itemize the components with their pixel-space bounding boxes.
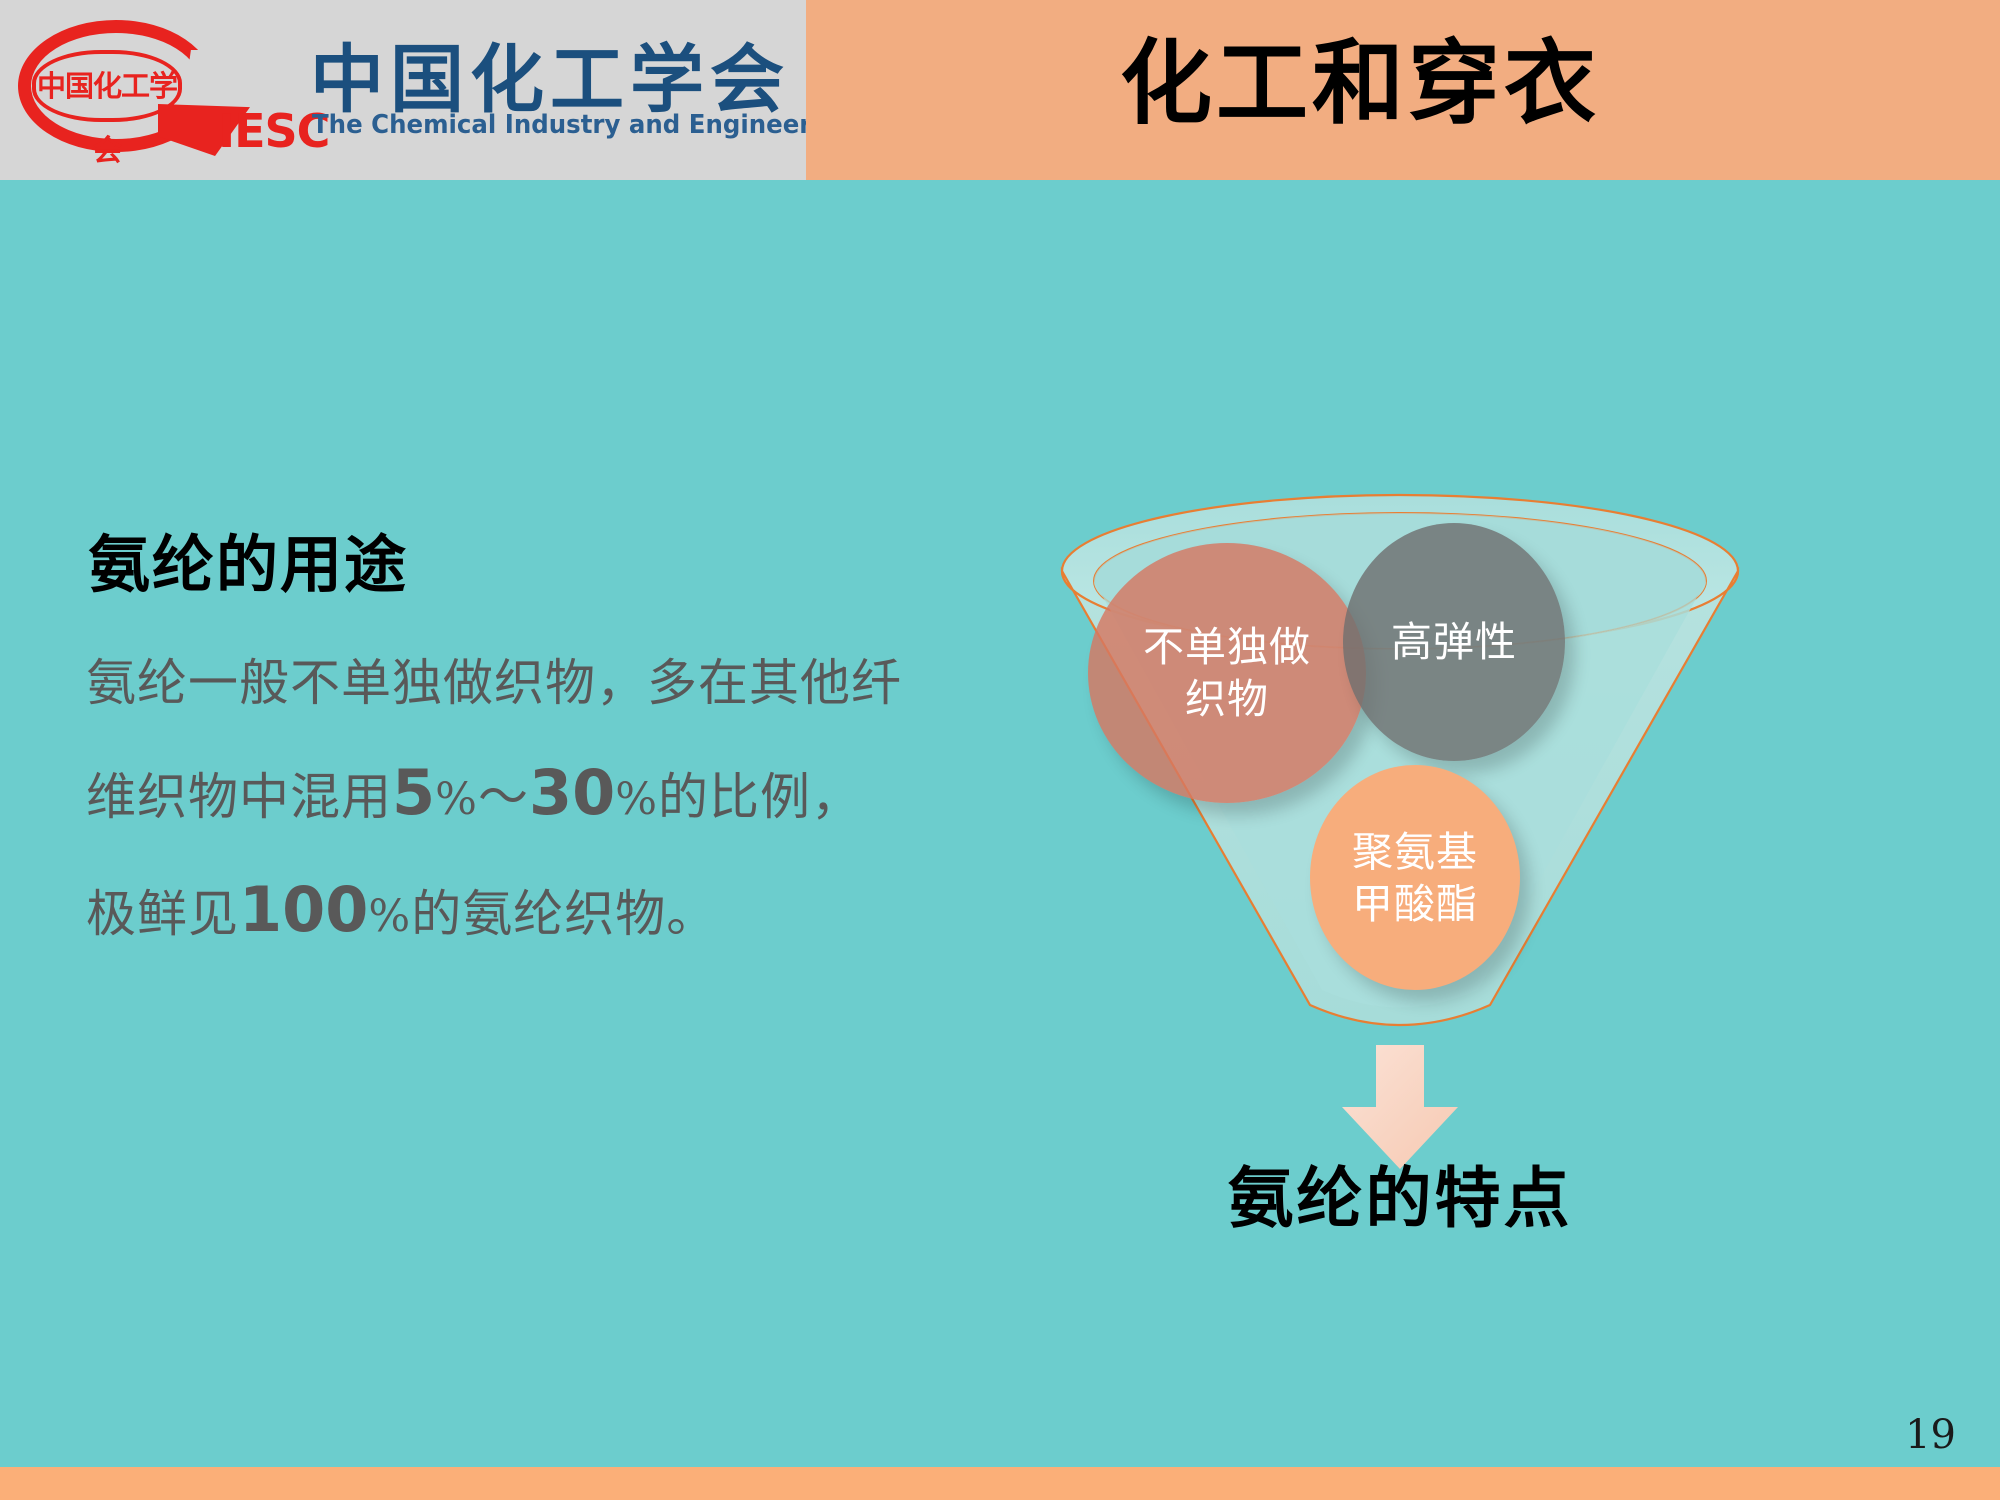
logo-english-name: The Chemical Industry and Engineering So… — [312, 110, 806, 140]
funnel-result-label: 氨纶的特点 — [1180, 1145, 1620, 1241]
slide-canvas: 中国化工学会 IESC 中国化工学会 The Chemical Industry… — [0, 0, 2000, 1500]
paragraph-line-2: 维织物中混用5%～30%的比例， — [86, 738, 966, 855]
organization-logo: 中国化工学会 IESC 中国化工学会 The Chemical Industry… — [0, 0, 806, 180]
line2-num1: 5 — [392, 756, 435, 829]
line2-pct2: % — [615, 774, 658, 825]
bubble-pu-line1: 聚氨基 — [1352, 828, 1478, 876]
line2-pre: 维织物中混用 — [86, 768, 392, 826]
line2-tilde: ～ — [478, 768, 529, 826]
line2-num2: 30 — [529, 756, 615, 829]
line2-post: 的比例， — [658, 768, 862, 826]
funnel-bubble-polyurethane: 聚氨基 甲酸酯 — [1310, 765, 1520, 990]
section-heading: 氨纶的用途 — [88, 514, 408, 604]
line3-post: 的氨纶织物。 — [411, 885, 717, 943]
funnel-bubble-elastic-label: 高弹性 — [1391, 616, 1517, 668]
funnel-bubble-pu-label: 聚氨基 甲酸酯 — [1352, 826, 1478, 930]
paragraph-line-1-text: 氨纶一般不单独做织物，多在其他纤 — [86, 654, 902, 712]
cicks-seal-icon: 中国化工学会 — [8, 8, 238, 168]
body-paragraph: 氨纶一般不单独做织物，多在其他纤 维织物中混用5%～30%的比例， 极鲜见100… — [86, 628, 966, 972]
bubble-fabric-line1: 不单独做 — [1143, 623, 1311, 671]
bubble-fabric-line2: 织物 — [1185, 675, 1269, 723]
slide-title: 化工和穿衣 — [1120, 24, 1850, 142]
paragraph-line-3: 极鲜见100%的氨纶织物。 — [86, 855, 966, 972]
line2-pct1: % — [435, 774, 478, 825]
funnel-bubble-fabric: 不单独做 织物 — [1088, 543, 1366, 803]
footer-band — [0, 1467, 2000, 1500]
line3-num1: 100 — [239, 873, 368, 946]
line3-pct1: % — [368, 891, 411, 942]
funnel-bubble-elastic: 高弹性 — [1343, 523, 1565, 761]
paragraph-line-1: 氨纶一般不单独做织物，多在其他纤 — [86, 628, 966, 738]
funnel-bubble-fabric-label: 不单独做 织物 — [1143, 621, 1311, 725]
bubble-pu-line2: 甲酸酯 — [1352, 880, 1478, 928]
page-number: 19 — [1905, 1412, 1956, 1458]
line3-pre: 极鲜见 — [86, 885, 239, 943]
funnel-diagram: 不单独做 织物 高弹性 聚氨基 甲酸酯 — [1060, 485, 1740, 1065]
